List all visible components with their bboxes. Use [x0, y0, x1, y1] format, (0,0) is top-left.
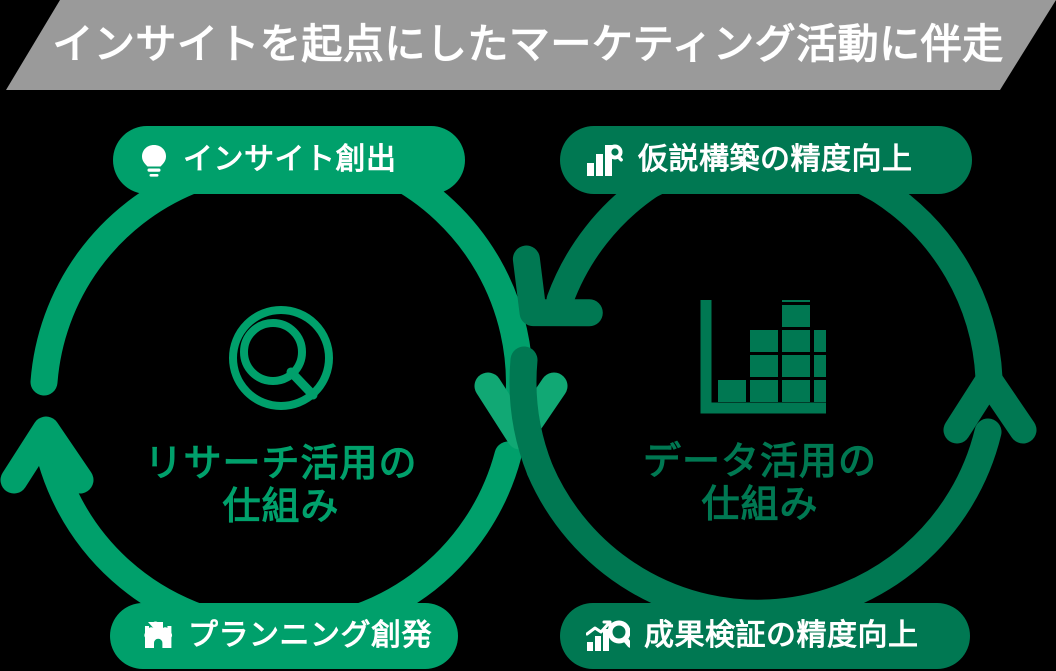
- data-title-line2: 仕組み: [643, 484, 877, 527]
- pill-planning-emergence[interactable]: プランニング創発: [110, 603, 458, 669]
- block-bar-chart-icon: [694, 300, 826, 423]
- pill-hypothesis-accuracy-label: 仮説構築の精度向上: [638, 145, 913, 175]
- trend-chart-magnifier-icon: [586, 620, 630, 652]
- pill-result-verification-accuracy[interactable]: 成果検証の精度向上: [560, 603, 970, 669]
- research-title-line1: リサーチ活用の: [144, 443, 417, 485]
- pill-result-verification-accuracy-label: 成果検証の精度向上: [644, 621, 919, 651]
- research-node-center: リサーチ活用の 仕組み: [101, 300, 461, 528]
- lightbulb-icon: [139, 143, 169, 177]
- research-node-title: リサーチ活用の 仕組み: [144, 443, 417, 528]
- header-banner: インサイトを起点にしたマーケティング活動に伴走: [0, 0, 1056, 90]
- diagram-canvas: インサイトを起点にしたマーケティング活動に伴走: [0, 0, 1056, 671]
- banner-title: インサイトを起点にしたマーケティング活動に伴走: [52, 24, 1003, 67]
- research-title-line2: 仕組み: [144, 486, 417, 529]
- bar-chart-magnifier-icon: [586, 143, 624, 177]
- puzzle-piece-icon: [136, 620, 174, 652]
- arrow-up-left-icon: [14, 430, 80, 480]
- pill-insight-creation-label: インサイト創出: [183, 145, 397, 175]
- arrow-up-right-icon: [957, 380, 1023, 430]
- data-node-center: データ活用の 仕組み: [580, 300, 940, 526]
- pill-planning-emergence-label: プランニング創発: [188, 621, 432, 651]
- data-title-line1: データ活用の: [643, 441, 877, 483]
- data-node-title: データ活用の 仕組み: [643, 441, 877, 526]
- pill-insight-creation[interactable]: インサイト創出: [113, 126, 465, 194]
- magnifier-q-icon: [221, 300, 341, 425]
- pill-hypothesis-accuracy[interactable]: 仮説構築の精度向上: [560, 126, 972, 194]
- arrow-down-center-icon: [488, 386, 554, 436]
